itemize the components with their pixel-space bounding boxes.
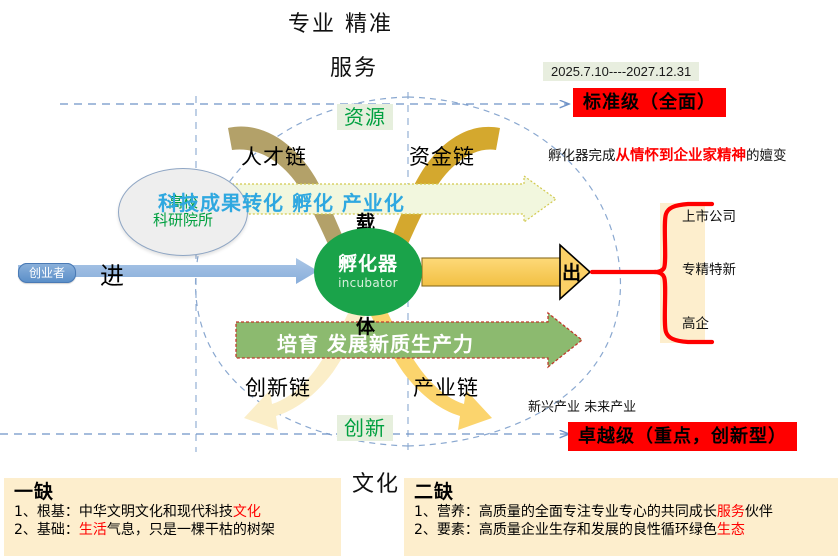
band-productivity-label: 培育 发展新质生产力 xyxy=(277,328,474,357)
quadrant-label-culture: 文化 xyxy=(352,466,400,498)
line-pre: 2、基础： xyxy=(14,522,79,538)
headline-line1: 专业 精准 xyxy=(288,6,393,38)
info-box-one-line-2: 2、基础：生活气息，只是一棵干枯的树架 xyxy=(14,522,333,540)
incubator-node[interactable]: 孵化器 incubator xyxy=(314,228,422,316)
info-box-two: 二缺 1、营养：高质量的全面专注专业专心的共同成长服务伙伴 2、要素：高质量企业… xyxy=(404,478,838,556)
info-box-one-line-1: 1、根基：中华文明文化和现代科技文化 xyxy=(14,504,333,522)
tier-label-hightech: 高企 xyxy=(682,312,709,332)
transformation-suffix: 的嬗变 xyxy=(746,148,787,164)
line-hot: 文化 xyxy=(233,504,261,520)
quadrant-label-innovation: 创新 xyxy=(337,415,393,441)
info-box-two-line-1: 1、营养：高质量的全面专注专业专心的共同成长服务伙伴 xyxy=(414,504,830,522)
line-post: 伙伴 xyxy=(745,504,773,520)
transformation-highlight: 从情怀到企业家精神 xyxy=(616,148,747,164)
tier-label-listed: 上市公司 xyxy=(682,205,736,225)
line-post: 气息，只是一棵干枯的树架 xyxy=(107,522,275,538)
exit-char: 出 xyxy=(562,258,581,285)
carrier-bottom-char: 体 xyxy=(356,312,375,339)
line-pre: 1、根基：中华文明文化和现代科技 xyxy=(14,504,233,520)
entrepreneur-pill[interactable]: 创业者 xyxy=(18,263,76,283)
headline-line2: 服务 xyxy=(330,50,378,82)
line-pre: 2、要素：高质量企业生存和发展的良性循环绿色 xyxy=(414,522,717,538)
banner-excellent-level[interactable]: 卓越级（重点，创新型） xyxy=(568,422,797,451)
enter-char: 进 xyxy=(100,256,124,291)
incubator-label-cn: 孵化器 xyxy=(338,254,398,275)
info-box-one-title: 一缺 xyxy=(14,482,333,504)
transformation-note: 孵化器完成从情怀到企业家精神的嬗变 xyxy=(548,144,787,165)
date-range-chip: 2025.7.10----2027.12.31 xyxy=(543,62,699,81)
line-hot: 生活 xyxy=(79,522,107,538)
chain-label-talent: 人才链 xyxy=(241,141,307,171)
chain-label-industry: 产业链 xyxy=(413,372,479,402)
incubator-label-en: incubator xyxy=(338,276,398,290)
quadrant-label-resource: 资源 xyxy=(337,104,393,130)
info-box-two-line-2: 2、要素：高质量企业生存和发展的良性循环绿色生态 xyxy=(414,522,830,540)
industry-note: 新兴产业 未来产业 xyxy=(528,396,636,415)
line-hot: 服务 xyxy=(717,504,745,520)
tier-label-specialized: 专精特新 xyxy=(682,258,736,278)
transformation-prefix: 孵化器完成 xyxy=(548,148,616,164)
chain-label-innovation: 创新链 xyxy=(245,372,311,402)
line-hot: 生态 xyxy=(717,522,745,538)
info-box-two-title: 二缺 xyxy=(414,482,830,504)
line-pre: 1、营养：高质量的全面专注专业专心的共同成长 xyxy=(414,504,717,520)
chain-label-capital: 资金链 xyxy=(409,141,475,171)
banner-standard-level[interactable]: 标准级（全面） xyxy=(573,88,726,117)
info-box-one: 一缺 1、根基：中华文明文化和现代科技文化 2、基础：生活气息，只是一棵干枯的树… xyxy=(4,478,341,556)
